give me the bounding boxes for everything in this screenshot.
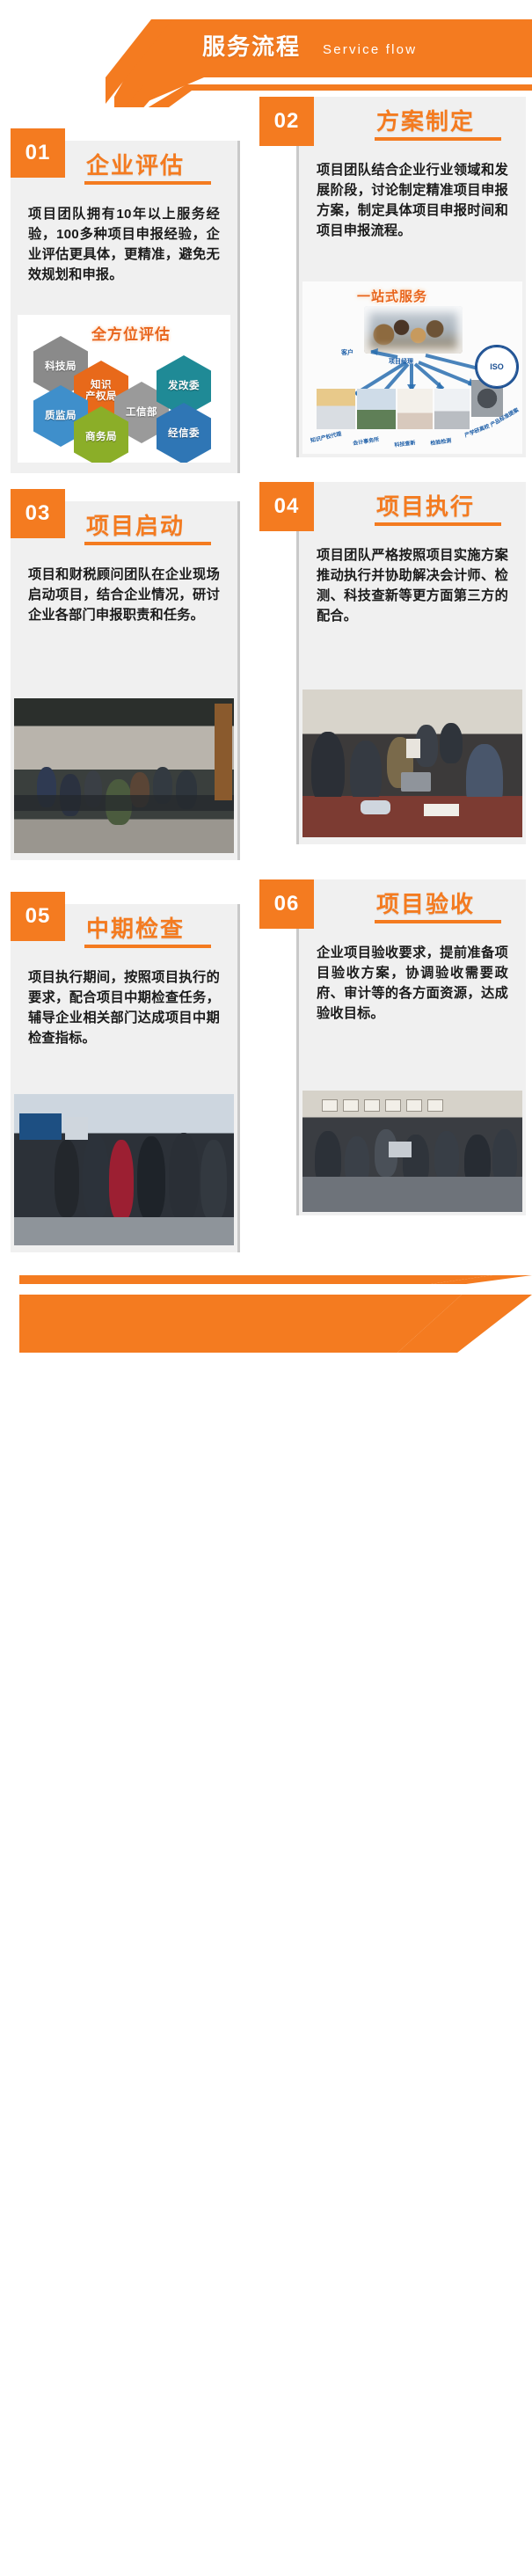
card-02-body: 项目团队结合企业行业领域和发展阶段，讨论制定精准项目申报方案，制定具体项目申报时… (317, 160, 508, 241)
card-01-title-rule (84, 181, 211, 185)
service-thumb-2 (357, 389, 396, 429)
hexagon-chart: 全方位评估 科技局 知识产权局 质监局 工信部 商务局 发改委 经信委 (18, 315, 230, 463)
card-03-title-rule (84, 542, 211, 545)
card-06-title-rule (375, 920, 501, 923)
footer-banner: 全国统一热线： 400-150-1560 (0, 1256, 532, 1353)
iso-seal-icon: ISO (475, 345, 519, 389)
card-05-body: 项目执行期间，按照项目执行的要求，配合项目中期检查任务，辅导企业相关部门达成项目… (28, 967, 220, 1048)
card-04-title: 项目执行 (376, 489, 475, 522)
photo-conference-room (14, 698, 234, 853)
card-03-number: 03 (11, 489, 65, 538)
one-stop-service-diagram: 一站式服务 (302, 281, 522, 454)
header-banner: 服务流程 Service flow (0, 0, 532, 106)
footer-hotline-number: 400-150-1560 (151, 2549, 304, 2576)
card-01-number: 01 (11, 128, 65, 178)
footer-hotline-label: 全国统一热线： (51, 2556, 153, 2574)
card-05-number: 05 (11, 892, 65, 941)
service-thumb-3 (397, 389, 433, 429)
card-01-title: 企业评估 (86, 148, 185, 180)
footer-shape-icon (0, 1256, 532, 1353)
card-03-body: 项目和财税顾问团队在企业现场启动项目，结合企业情况，研讨企业各部门申报职责和任务… (28, 565, 220, 625)
photo-boardroom (302, 1091, 522, 1212)
card-04-body: 项目团队严格按照项目实施方案推动执行并协助解决会计师、检测、科技查新等更方面第三… (317, 545, 508, 626)
hexagon-chart-title: 全方位评估 (91, 322, 171, 344)
service-node-manager: 项目经理 (389, 357, 413, 366)
service-node-client: 客户 (341, 348, 353, 357)
card-05-title-rule (84, 945, 211, 948)
header-title: 服务流程 (202, 35, 301, 58)
card-01-body: 项目团队拥有10年以上服务经验，100多种项目申报经验，企业评估更具体，更精准，… (28, 204, 220, 285)
header-subtitle: Service flow (323, 42, 417, 57)
card-02[interactable]: 02 方案制定 项目团队结合企业行业领域和发展阶段，讨论制定精准项目申报方案，制… (299, 97, 526, 457)
service-thumb-1 (317, 389, 355, 429)
card-04-number: 04 (259, 482, 314, 531)
card-06[interactable]: 06 项目验收 企业项目验收要求，提前准备项目验收方案，协调验收需要政府、审计等… (299, 879, 526, 1215)
service-thumb-4 (434, 389, 470, 429)
card-06-body: 企业项目验收要求，提前准备项目验收方案，协调验收需要政府、审计等的各方面资源，达… (317, 943, 508, 1024)
card-05-title: 中期检查 (86, 911, 185, 944)
service-flow-infographic: 服务流程 Service flow 01 企业评估 项目团队拥有10年以上服务经… (0, 0, 532, 1353)
card-05[interactable]: 05 中期检查 项目执行期间，按照项目执行的要求，配合项目中期检查任务，辅导企业… (11, 904, 237, 1252)
card-03-title: 项目启动 (86, 508, 185, 541)
card-06-title: 项目验收 (376, 887, 475, 919)
card-04-title-rule (375, 522, 501, 526)
wall-frames (322, 1099, 443, 1112)
card-02-title: 方案制定 (376, 104, 475, 136)
photo-lobby-group (14, 1094, 234, 1245)
card-02-title-rule (375, 137, 501, 141)
card-04[interactable]: 04 项目执行 项目团队严格按照项目实施方案推动执行并协助解决会计师、检测、科技… (299, 482, 526, 844)
card-02-number: 02 (259, 97, 314, 146)
card-03[interactable]: 03 项目启动 项目和财税顾问团队在企业现场启动项目，结合企业情况，研讨企业各部… (11, 501, 237, 860)
photo-meeting-table (302, 690, 522, 837)
card-01[interactable]: 01 企业评估 项目团队拥有10年以上服务经验，100多种项目申报经验，企业评估… (11, 141, 237, 473)
card-06-number: 06 (259, 879, 314, 929)
